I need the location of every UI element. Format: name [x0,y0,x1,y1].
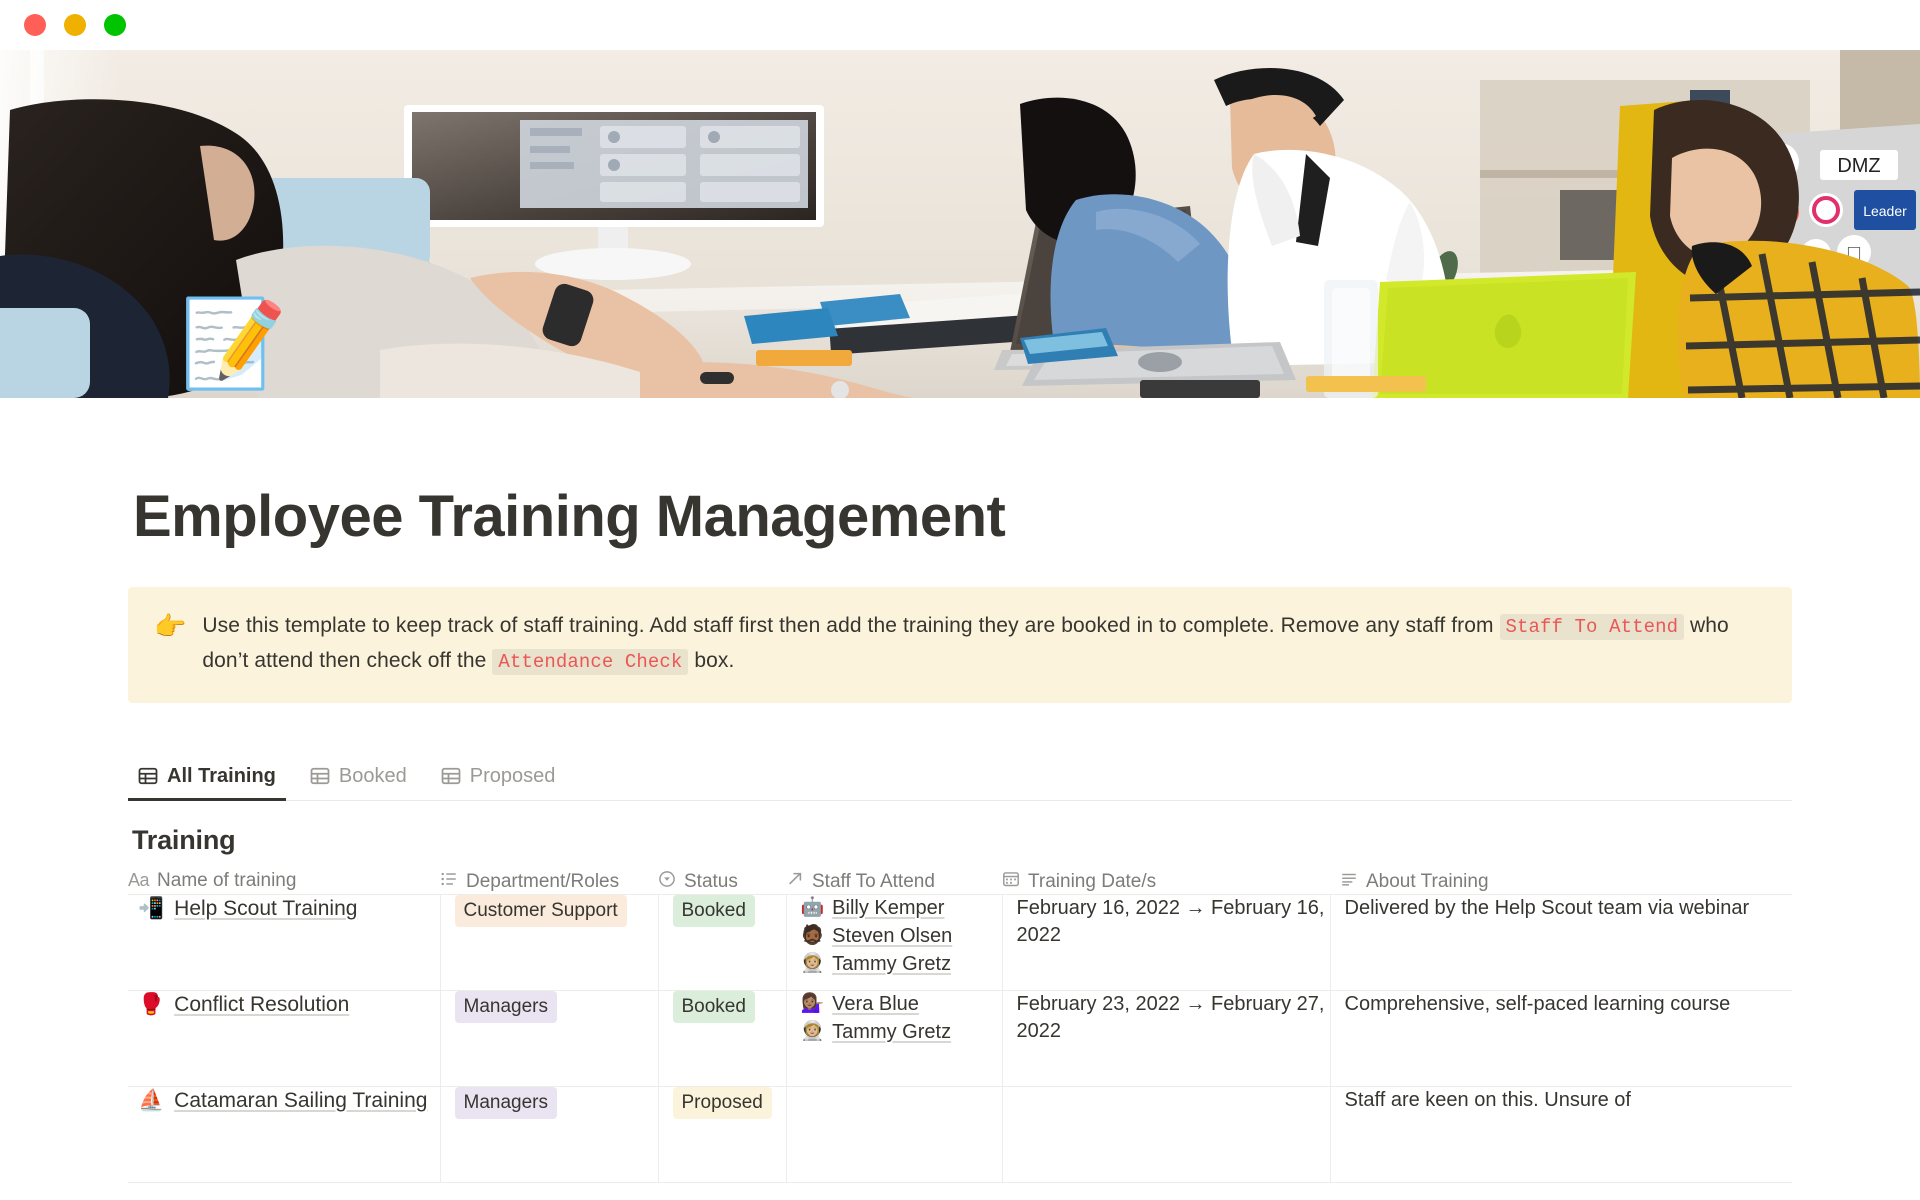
calendar-icon [1002,870,1020,894]
cell-about[interactable]: Staff are keen on this. Unsure of [1330,1086,1792,1182]
staff-item[interactable]: 🧔🏾 Steven Olsen [801,923,1002,949]
avatar-emoji-icon: 💁🏽‍♀️ [801,991,825,1017]
database-title[interactable]: Training [128,825,1792,856]
about-training-text: Comprehensive, self-paced learning cours… [1331,991,1793,1018]
table-row[interactable]: 🥊 Conflict Resolution Managers Booked [128,990,1792,1086]
avatar-emoji-icon: 🧔🏾 [801,923,825,949]
training-name-link[interactable]: Catamaran Sailing Training [174,1087,427,1114]
relation-arrow-icon [786,870,804,894]
minimize-button[interactable] [64,14,86,36]
cell-name[interactable]: 🥊 Conflict Resolution [128,990,440,1086]
cell-dates[interactable] [1002,1086,1330,1182]
code-attendance-check: Attendance Check [492,649,688,675]
cell-dates[interactable]: February 23, 2022 → February 27, 2022 [1002,990,1330,1086]
column-header-status[interactable]: Status [658,870,786,895]
callout-text-1: Use this template to keep track of staff… [202,614,1499,637]
cell-name[interactable]: ⛵ Catamaran Sailing Training [128,1086,440,1182]
tab-label: Booked [339,765,407,788]
close-button[interactable] [24,14,46,36]
staff-name[interactable]: Steven Olsen [832,923,952,949]
avatar-emoji-icon: 🤖 [801,895,825,921]
table-icon [310,766,330,786]
column-header-dates[interactable]: Training Date/s [1002,870,1330,895]
traffic-lights [24,14,126,36]
about-training-text: Delivered by the Help Scout team via web… [1331,895,1793,922]
callout-text-3: box. [688,649,734,672]
callout-text: Use this template to keep track of staff… [202,609,1766,679]
tab-proposed[interactable]: Proposed [431,761,566,800]
table-icon [441,766,461,786]
training-date-range: February 23, 2022 → February 27, 2022 [1003,991,1330,1045]
text-lines-icon [1340,870,1358,894]
page-icon[interactable]: 📝 [180,296,276,392]
about-training-text: Staff are keen on this. Unsure of [1331,1087,1793,1114]
column-header-label: About Training [1366,871,1489,893]
table-row[interactable]: ⛵ Catamaran Sailing Training Managers Pr… [128,1086,1792,1182]
staff-item[interactable]: 🤖 Billy Kemper [801,895,1002,921]
staff-item[interactable]: 👩🏼‍🚀 Tammy Gretz [801,951,1002,977]
status-badge: Booked [673,895,755,927]
column-header-staff[interactable]: Staff To Attend [786,870,1002,895]
avatar-emoji-icon: 👩🏼‍🚀 [801,1019,825,1045]
select-icon [658,870,676,894]
svg-text:DMZ: DMZ [1837,155,1880,177]
department-tag: Managers [455,1087,558,1119]
cell-name[interactable]: 📲 Help Scout Training [128,894,440,990]
cell-status[interactable]: Booked [658,894,786,990]
column-header-label: Department/Roles [466,871,619,893]
cell-department[interactable]: Managers [440,1086,658,1182]
cell-status[interactable]: Proposed [658,1086,786,1182]
column-header-about[interactable]: About Training [1330,870,1792,895]
table-body: 📲 Help Scout Training Customer Support B… [128,894,1792,1182]
column-header-name[interactable]: Aa Name of training [128,870,440,895]
cell-staff[interactable]: 💁🏽‍♀️ Vera Blue 👩🏼‍🚀 Tammy Gretz [786,990,1002,1086]
cell-staff[interactable] [786,1086,1002,1182]
row-emoji-icon: 🥊 [138,991,164,1018]
column-header-label: Training Date/s [1028,871,1156,893]
staff-name[interactable]: Billy Kemper [832,895,944,921]
cell-status[interactable]: Booked [658,990,786,1086]
window-titlebar [0,0,1920,50]
avatar-emoji-icon: 👩🏼‍🚀 [801,951,825,977]
staff-name[interactable]: Vera Blue [832,991,919,1017]
department-tag: Customer Support [455,895,627,927]
staff-item[interactable]: 💁🏽‍♀️ Vera Blue [801,991,1002,1017]
status-badge: Booked [673,991,755,1023]
tab-booked[interactable]: Booked [300,761,417,800]
page-title[interactable]: Employee Training Management [128,484,1792,551]
zoom-button[interactable] [104,14,126,36]
pointing-finger-icon: 👉 [154,609,186,643]
cell-dates[interactable]: February 16, 2022 → February 16, 2022 [1002,894,1330,990]
cell-about[interactable]: Comprehensive, self-paced learning cours… [1330,990,1792,1086]
code-staff-to-attend: Staff To Attend [1500,614,1685,640]
multi-select-icon [440,870,458,894]
page-content: Employee Training Management 👉 Use this … [0,484,1920,1183]
table-header: Aa Name of training [128,870,1792,895]
cover-image: G DMZ f Leader  [0,50,1920,398]
row-emoji-icon: ⛵ [138,1087,164,1114]
cell-department[interactable]: Customer Support [440,894,658,990]
svg-text:Leader: Leader [1863,203,1907,219]
training-date-range: February 16, 2022 → February 16, 2022 [1003,895,1330,949]
column-header-department[interactable]: Department/Roles [440,870,658,895]
status-badge: Proposed [673,1087,772,1119]
tab-label: All Training [167,765,276,788]
staff-name[interactable]: Tammy Gretz [832,951,951,977]
cell-department[interactable]: Managers [440,990,658,1086]
database-view-tabs: All Training Booked [128,761,1792,801]
training-name-link[interactable]: Help Scout Training [174,895,357,922]
cell-staff[interactable]: 🤖 Billy Kemper 🧔🏾 Steven Olsen 👩🏼‍🚀 Tamm… [786,894,1002,990]
training-name-link[interactable]: Conflict Resolution [174,991,349,1018]
staff-item[interactable]: 👩🏼‍🚀 Tammy Gretz [801,1019,1002,1045]
tab-label: Proposed [470,765,556,788]
table-icon [138,766,158,786]
column-header-label: Staff To Attend [812,871,935,893]
row-emoji-icon: 📲 [138,895,164,922]
staff-name[interactable]: Tammy Gretz [832,1019,951,1045]
training-table: Aa Name of training [128,870,1792,1183]
tab-all-training[interactable]: All Training [128,761,286,800]
column-header-label: Name of training [157,870,296,892]
cell-about[interactable]: Delivered by the Help Scout team via web… [1330,894,1792,990]
aa-text-icon: Aa [128,870,149,891]
department-tag: Managers [455,991,558,1023]
column-header-label: Status [684,871,738,893]
callout-block: 👉 Use this template to keep track of sta… [128,587,1792,703]
table-row[interactable]: 📲 Help Scout Training Customer Support B… [128,894,1792,990]
